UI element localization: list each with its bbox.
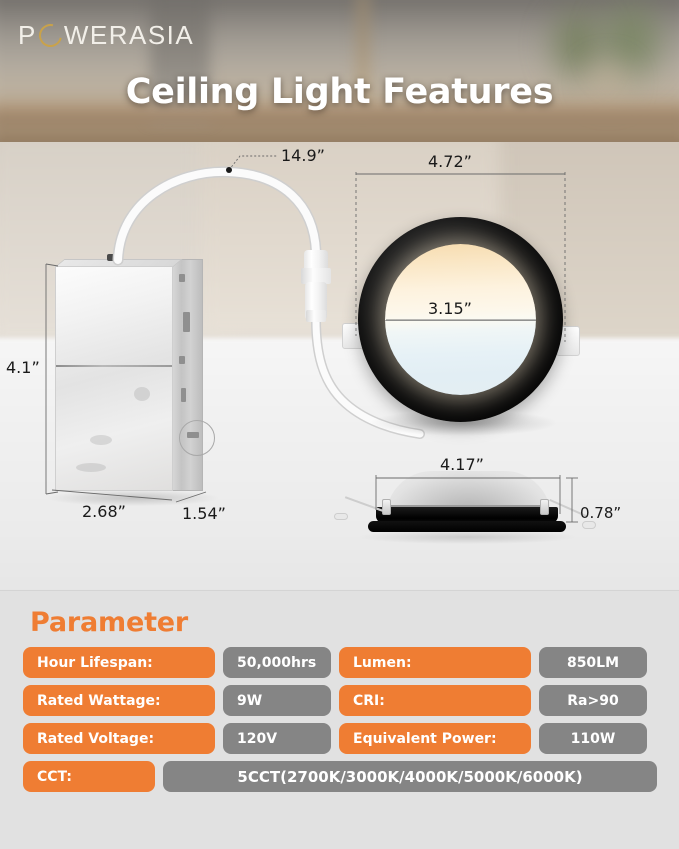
dimension-label-trim-diameter: 4.72” bbox=[428, 152, 472, 171]
spec-label-lumen: Lumen: bbox=[339, 647, 531, 678]
table-row: Hour Lifespan: 50,000hrs Lumen: 850LM bbox=[23, 647, 657, 678]
spec-value-rated-wattage: 9W bbox=[223, 685, 331, 716]
o-ring-logo-mark bbox=[34, 19, 66, 51]
spec-value-lumen: 850LM bbox=[539, 647, 647, 678]
knockout-tab-mid bbox=[179, 356, 185, 364]
spec-label-equivalent-power: Equivalent Power: bbox=[339, 723, 531, 754]
knockout-slot-lower bbox=[187, 432, 199, 438]
downlight-lens bbox=[385, 244, 536, 395]
spec-label-cri: CRI: bbox=[339, 685, 531, 716]
logo-text-before: P bbox=[18, 20, 37, 51]
spec-value-cct: 5CCT(2700K/3000K/4000K/5000K/6000K) bbox=[163, 761, 657, 792]
dimension-label-fixture-height: 0.78” bbox=[580, 504, 621, 522]
specification-table: Hour Lifespan: 50,000hrs Lumen: 850LM Ra… bbox=[23, 647, 657, 799]
cable-entry-grommet bbox=[107, 254, 122, 261]
dimension-label-box-depth: 1.54” bbox=[182, 504, 226, 523]
dimension-label-box-height: 4.1” bbox=[6, 358, 40, 377]
side-view-spring-tip-right bbox=[582, 521, 596, 529]
side-view-trim-lip bbox=[368, 521, 566, 532]
surface-speckle bbox=[76, 463, 106, 472]
junction-box bbox=[55, 266, 203, 498]
table-row: Rated Voltage: 120V Equivalent Power: 11… bbox=[23, 723, 657, 754]
dimension-label-cutout-diameter: 4.17” bbox=[440, 455, 484, 474]
junction-box-side-panel bbox=[172, 259, 203, 491]
connector-strain-relief bbox=[306, 310, 326, 322]
knockout-tab-lower bbox=[181, 388, 186, 402]
surface-speckle bbox=[90, 435, 112, 445]
dimension-label-box-width: 2.68” bbox=[82, 502, 126, 521]
dimension-label-cable-length: 14.9” bbox=[281, 146, 325, 165]
logo-text-after: WERASIA bbox=[64, 20, 194, 51]
brand-logo: P WERASIA bbox=[18, 20, 194, 50]
table-row: Rated Wattage: 9W CRI: Ra>90 bbox=[23, 685, 657, 716]
recessed-downlight bbox=[358, 217, 563, 422]
product-photo-scene: 14.9” 4.1” 2.68” 1.54” 4.72” 3.15” 4.17”… bbox=[0, 142, 679, 590]
table-row: CCT: 5CCT(2700K/3000K/4000K/5000K/6000K) bbox=[23, 761, 657, 792]
spec-label-cct: CCT: bbox=[23, 761, 155, 792]
downlight-side-view bbox=[368, 477, 568, 537]
junction-box-front-face bbox=[55, 266, 173, 491]
spec-label-rated-voltage: Rated Voltage: bbox=[23, 723, 215, 754]
side-view-spring-tip-left bbox=[334, 513, 348, 520]
knockout-slot-upper bbox=[183, 312, 190, 332]
page-title: Ceiling Light Features bbox=[0, 72, 679, 112]
spec-value-hour-lifespan: 50,000hrs bbox=[223, 647, 331, 678]
spec-value-cri: Ra>90 bbox=[539, 685, 647, 716]
logo-text: P WERASIA bbox=[18, 20, 194, 51]
parameter-heading: Parameter bbox=[30, 607, 188, 638]
product-feature-infographic: P WERASIA Ceiling Light Features bbox=[0, 0, 679, 849]
spec-label-rated-wattage: Rated Wattage: bbox=[23, 685, 215, 716]
spec-value-rated-voltage: 120V bbox=[223, 723, 331, 754]
header-banner: P WERASIA Ceiling Light Features bbox=[0, 0, 679, 142]
parameter-panel: Parameter Hour Lifespan: 50,000hrs Lumen… bbox=[0, 590, 679, 849]
dimension-label-lens-diameter: 3.15” bbox=[428, 299, 472, 318]
side-view-clip-post-right bbox=[540, 499, 549, 515]
knockout-tab-top bbox=[179, 274, 185, 282]
surface-speckle bbox=[134, 387, 150, 401]
spec-value-equivalent-power: 110W bbox=[539, 723, 647, 754]
spec-label-hour-lifespan: Hour Lifespan: bbox=[23, 647, 215, 678]
side-view-clip-post-left bbox=[382, 499, 391, 515]
knockout-circle bbox=[179, 420, 215, 456]
